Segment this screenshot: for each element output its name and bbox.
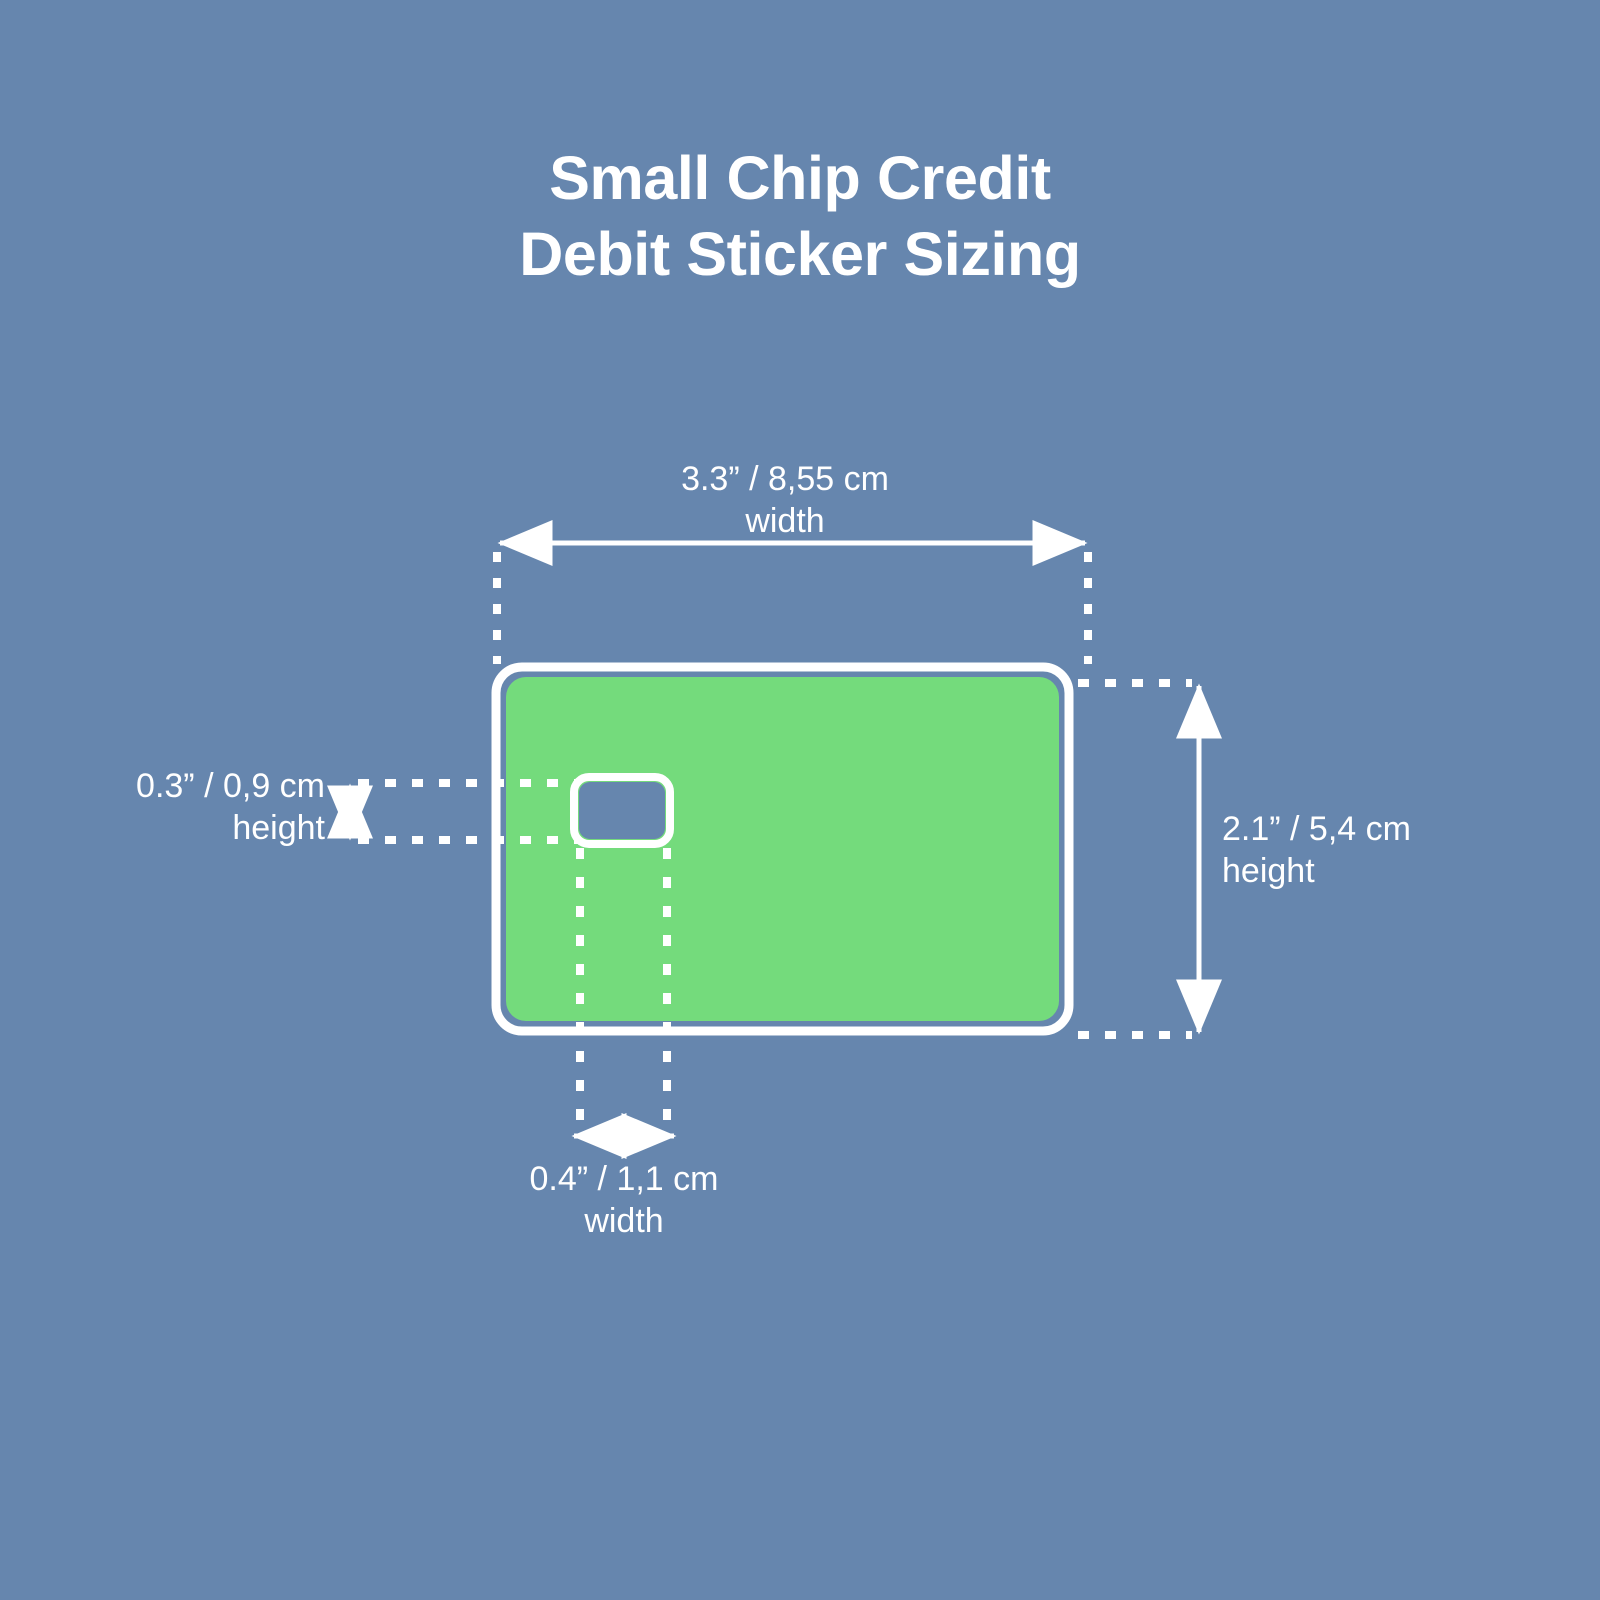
dimension-label-chip-height: 0.3” / 0,9 cm height [25, 765, 325, 849]
card-body [506, 677, 1059, 1021]
diagram-canvas: Small Chip Credit Debit Sticker Sizing [0, 0, 1600, 1600]
chip-body [579, 782, 665, 839]
dimension-label-chip-width: 0.4” / 1,1 cm width [424, 1158, 824, 1242]
dimension-label-card-width: 3.3” / 8,55 cm width [585, 458, 985, 542]
dimension-label-card-height: 2.1” / 5,4 cm height [1222, 808, 1562, 892]
